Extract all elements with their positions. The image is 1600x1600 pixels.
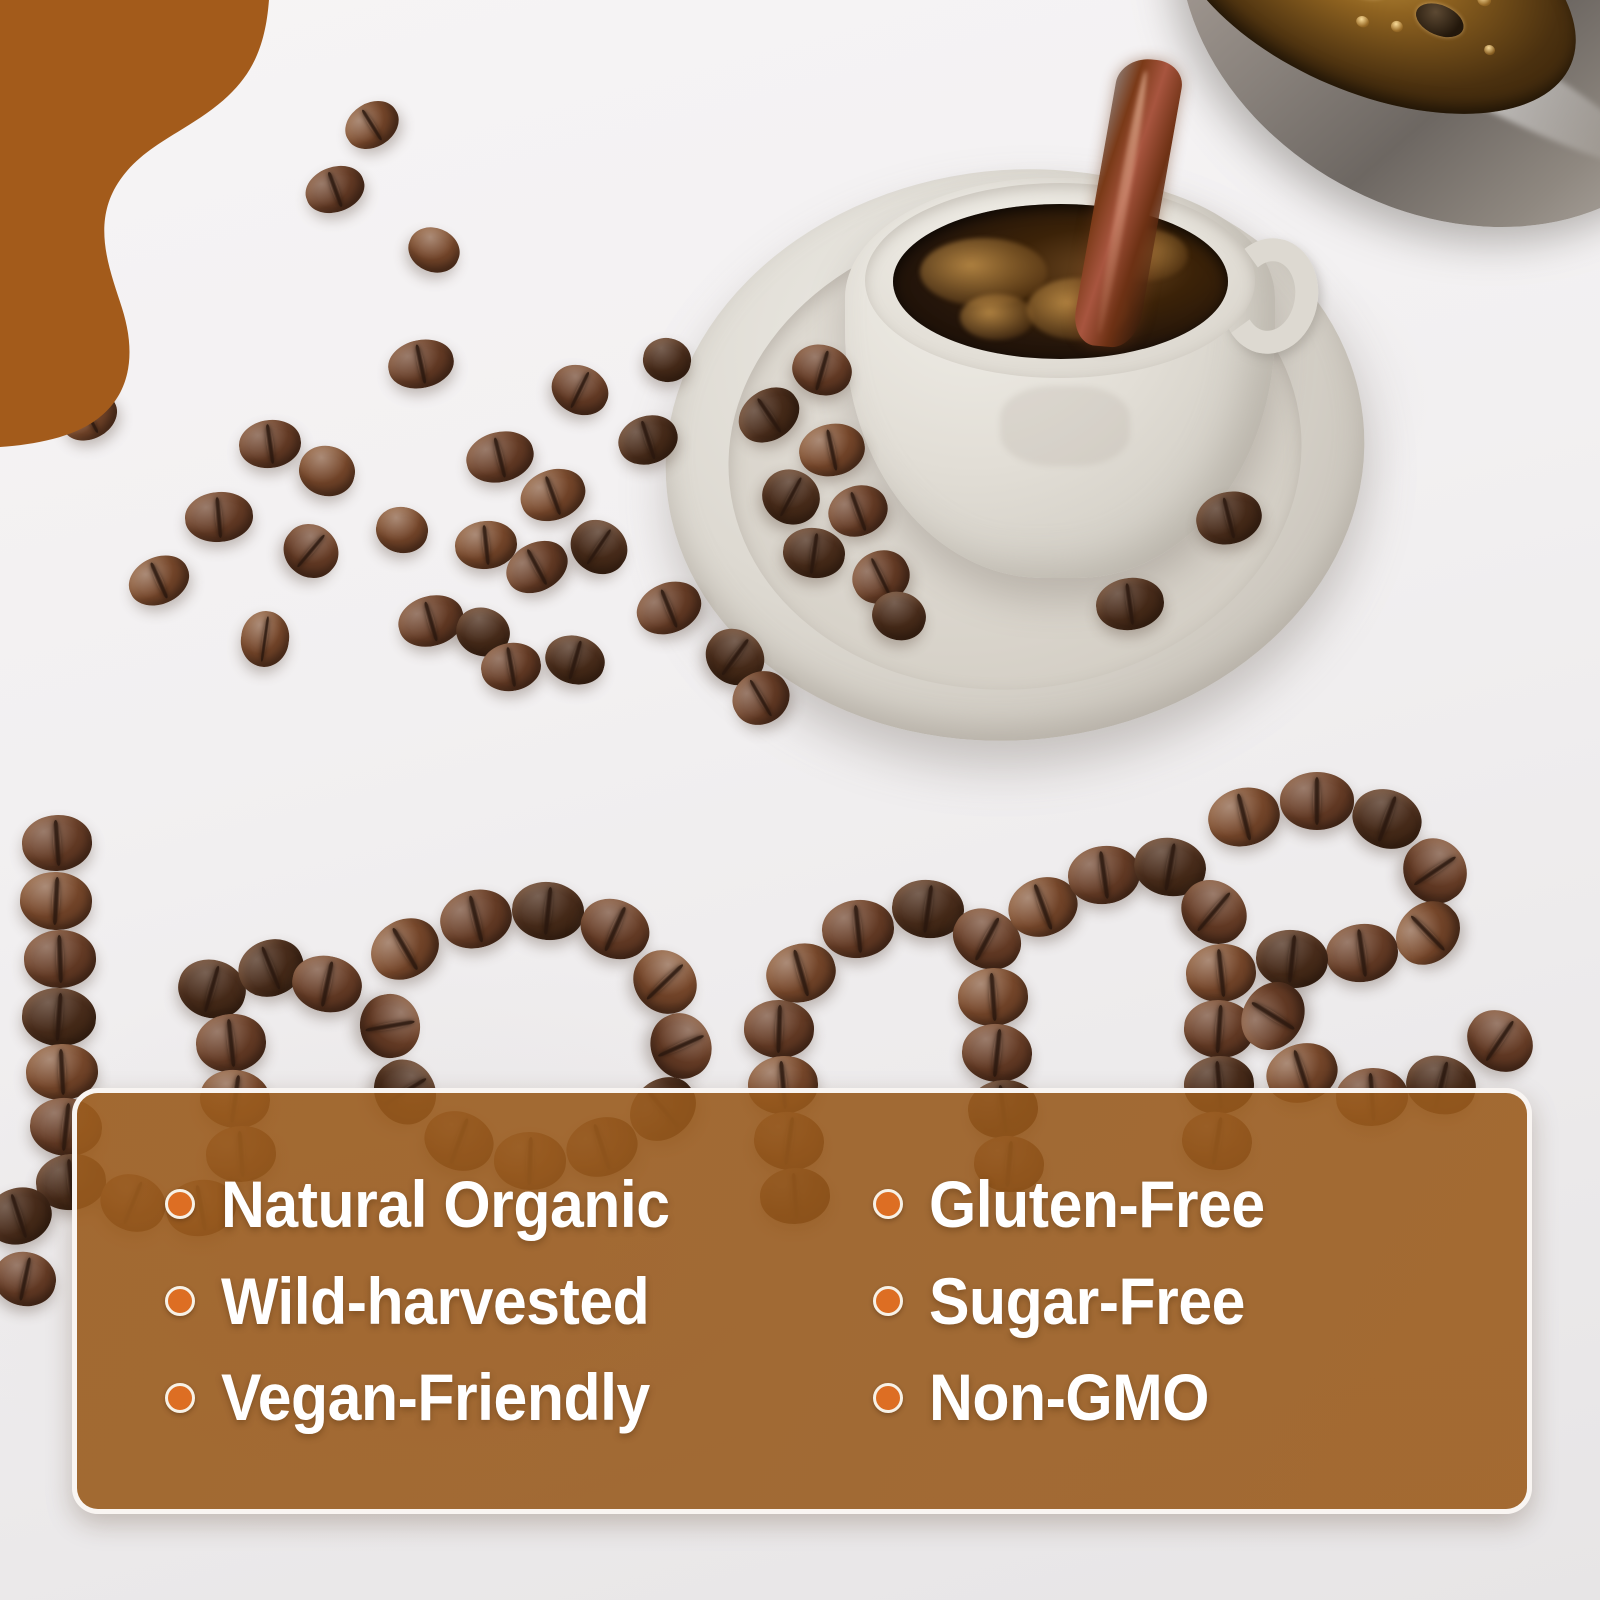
feature-label: Gluten-Free bbox=[929, 1170, 1265, 1239]
brown-wave-blob bbox=[0, 0, 290, 470]
circle-bullet-icon bbox=[165, 1383, 195, 1413]
circle-bullet-icon bbox=[873, 1189, 903, 1219]
circle-bullet-icon bbox=[165, 1286, 195, 1316]
feature-label: Sugar-Free bbox=[929, 1267, 1245, 1336]
feature-item[interactable]: Vegan-Friendly bbox=[165, 1363, 873, 1432]
circle-bullet-icon bbox=[873, 1286, 903, 1316]
feature-item[interactable]: Sugar-Free bbox=[873, 1267, 1527, 1336]
cup-logo-emboss bbox=[1000, 386, 1130, 466]
features-column-left: Natural Organic Wild-harvested Vegan-Fri… bbox=[165, 1170, 873, 1432]
feature-label: Non-GMO bbox=[929, 1363, 1209, 1432]
feature-label: Vegan-Friendly bbox=[221, 1363, 650, 1432]
circle-bullet-icon bbox=[165, 1189, 195, 1219]
feature-item[interactable]: Wild-harvested bbox=[165, 1267, 873, 1336]
circle-bullet-icon bbox=[873, 1383, 903, 1413]
feature-item[interactable]: Non-GMO bbox=[873, 1363, 1527, 1432]
features-panel: Natural Organic Wild-harvested Vegan-Fri… bbox=[72, 1088, 1532, 1514]
features-grid: Natural Organic Wild-harvested Vegan-Fri… bbox=[77, 1093, 1527, 1509]
feature-label: Wild-harvested bbox=[221, 1267, 649, 1336]
poster-canvas: Natural Organic Wild-harvested Vegan-Fri… bbox=[0, 0, 1600, 1600]
coffee-surface bbox=[893, 204, 1228, 359]
features-column-right: Gluten-Free Sugar-Free Non-GMO bbox=[873, 1170, 1527, 1432]
feature-item[interactable]: Natural Organic bbox=[165, 1170, 873, 1239]
feature-label: Natural Organic bbox=[221, 1170, 670, 1239]
feature-item[interactable]: Gluten-Free bbox=[873, 1170, 1527, 1239]
